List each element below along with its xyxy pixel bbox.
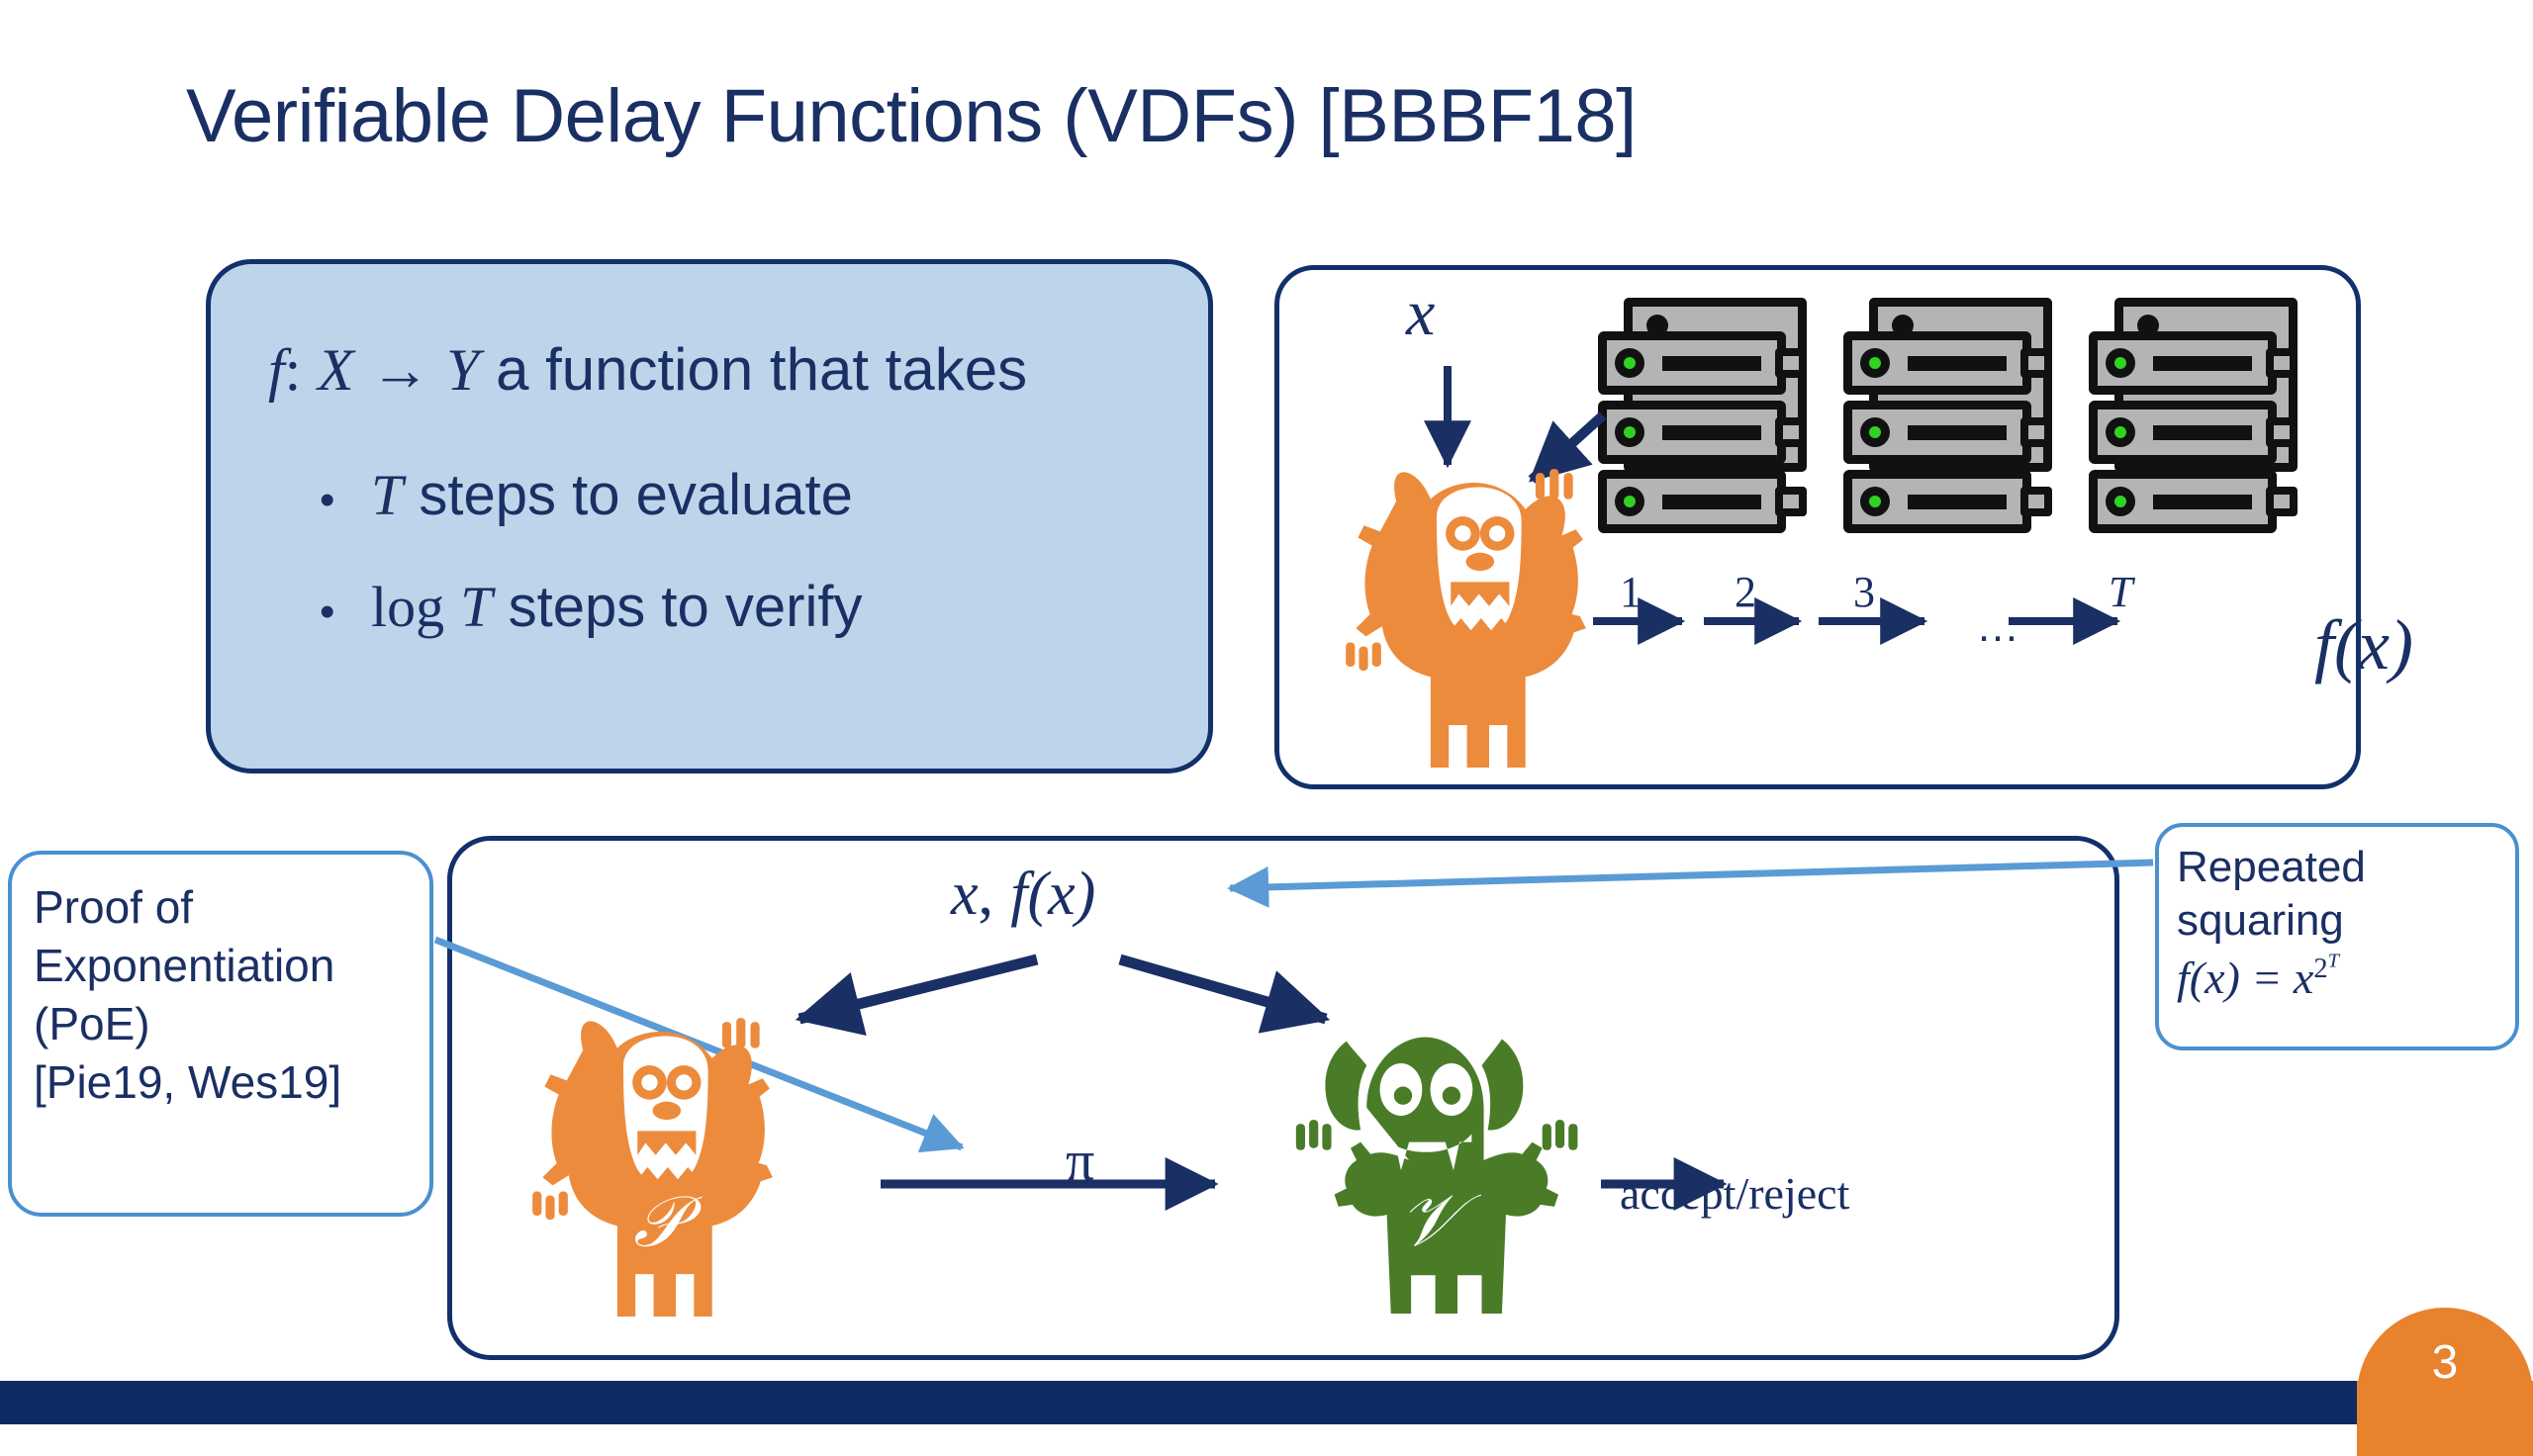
list-item: • T steps to evaluate xyxy=(320,462,1190,528)
input-label-x: x xyxy=(1406,276,1435,351)
function-symbol: f xyxy=(268,337,285,403)
server-unit xyxy=(1843,331,2031,395)
message-label-pi: π xyxy=(1066,1128,1094,1194)
server-unit xyxy=(1598,470,1786,533)
poe-line-3: (PoE) xyxy=(34,995,408,1053)
step-label-1: 1 xyxy=(1620,567,1642,617)
repeated-squaring-line-2: squaring xyxy=(2177,894,2497,948)
slide-canvas: Verifiable Delay Functions (VDFs) [BBBF1… xyxy=(0,0,2533,1424)
server-rack-icon xyxy=(1598,298,1821,505)
bullet-text: steps to verify xyxy=(509,575,863,639)
list-item: • log T steps to verify xyxy=(320,574,1190,640)
statement-label-x-fx: x, f(x) xyxy=(951,859,1095,930)
definition-bullet-list: • T steps to evaluate • log T steps to v… xyxy=(320,462,1190,685)
footer-bar xyxy=(0,1381,2533,1424)
codomain-symbol: Y xyxy=(446,337,479,403)
definition-headline: f: X → Y a function that takes xyxy=(268,335,1027,405)
server-rack-icon xyxy=(1843,298,2066,505)
ellipsis-label: … xyxy=(1976,602,2021,652)
poe-line-4: [Pie19, Wes19] xyxy=(34,1053,408,1112)
output-label-fx: f(x) xyxy=(2314,604,2413,686)
callout-repeated-squaring: Repeated squaring f(x) = x2T xyxy=(2155,823,2519,1050)
step-label-T: T xyxy=(2109,567,2132,617)
server-unit xyxy=(1598,331,1786,395)
server-rack-group xyxy=(1598,298,2312,505)
exponent-outer: 2T xyxy=(2313,954,2339,984)
step-label-2: 2 xyxy=(1735,567,1756,617)
step-arrow-sequence: 1 2 3 … T xyxy=(1584,567,2336,685)
repeated-squaring-line-1: Repeated xyxy=(2177,841,2497,894)
callout-proof-of-exponentiation: Proof of Exponentiation (PoE) [Pie19, We… xyxy=(8,851,433,1217)
definition-headline-text: a function that takes xyxy=(496,336,1027,403)
steps-symbol-T: T xyxy=(371,463,403,527)
evaluation-box: x 1 2 3 … xyxy=(1274,265,2361,789)
page-title: Verifiable Delay Functions (VDFs) [BBBF1… xyxy=(186,77,1637,156)
colon-symbol: : xyxy=(285,337,302,403)
bullet-dot-icon: • xyxy=(320,591,371,634)
bullet-text: steps to evaluate xyxy=(419,463,853,527)
server-rack-icon xyxy=(2089,298,2311,505)
step-label-3: 3 xyxy=(1853,567,1875,617)
domain-symbol: X xyxy=(318,337,354,403)
protocol-box: x, f(x) π accept/reject xyxy=(447,836,2119,1360)
footer-accent-stripe xyxy=(2357,1381,2533,1424)
server-unit xyxy=(2089,331,2277,395)
server-unit xyxy=(1843,401,2031,464)
server-unit xyxy=(2089,401,2277,464)
definition-box: f: X → Y a function that takes • T steps… xyxy=(206,259,1213,773)
repeated-squaring-formula: f(x) = x2T xyxy=(2177,951,2497,1004)
server-unit xyxy=(1843,470,2031,533)
steps-symbol-T: T xyxy=(460,575,492,639)
maps-to-arrow-icon: → xyxy=(370,337,429,403)
server-unit xyxy=(1598,401,1786,464)
poe-line-2: Exponentiation xyxy=(34,937,408,995)
outcome-label: accept/reject xyxy=(1620,1167,1849,1220)
poe-line-1: Proof of xyxy=(34,878,408,937)
bullet-dot-icon: • xyxy=(320,479,371,522)
log-symbol: log xyxy=(371,575,444,639)
server-unit xyxy=(2089,470,2277,533)
exponent-inner: T xyxy=(2328,951,2339,972)
